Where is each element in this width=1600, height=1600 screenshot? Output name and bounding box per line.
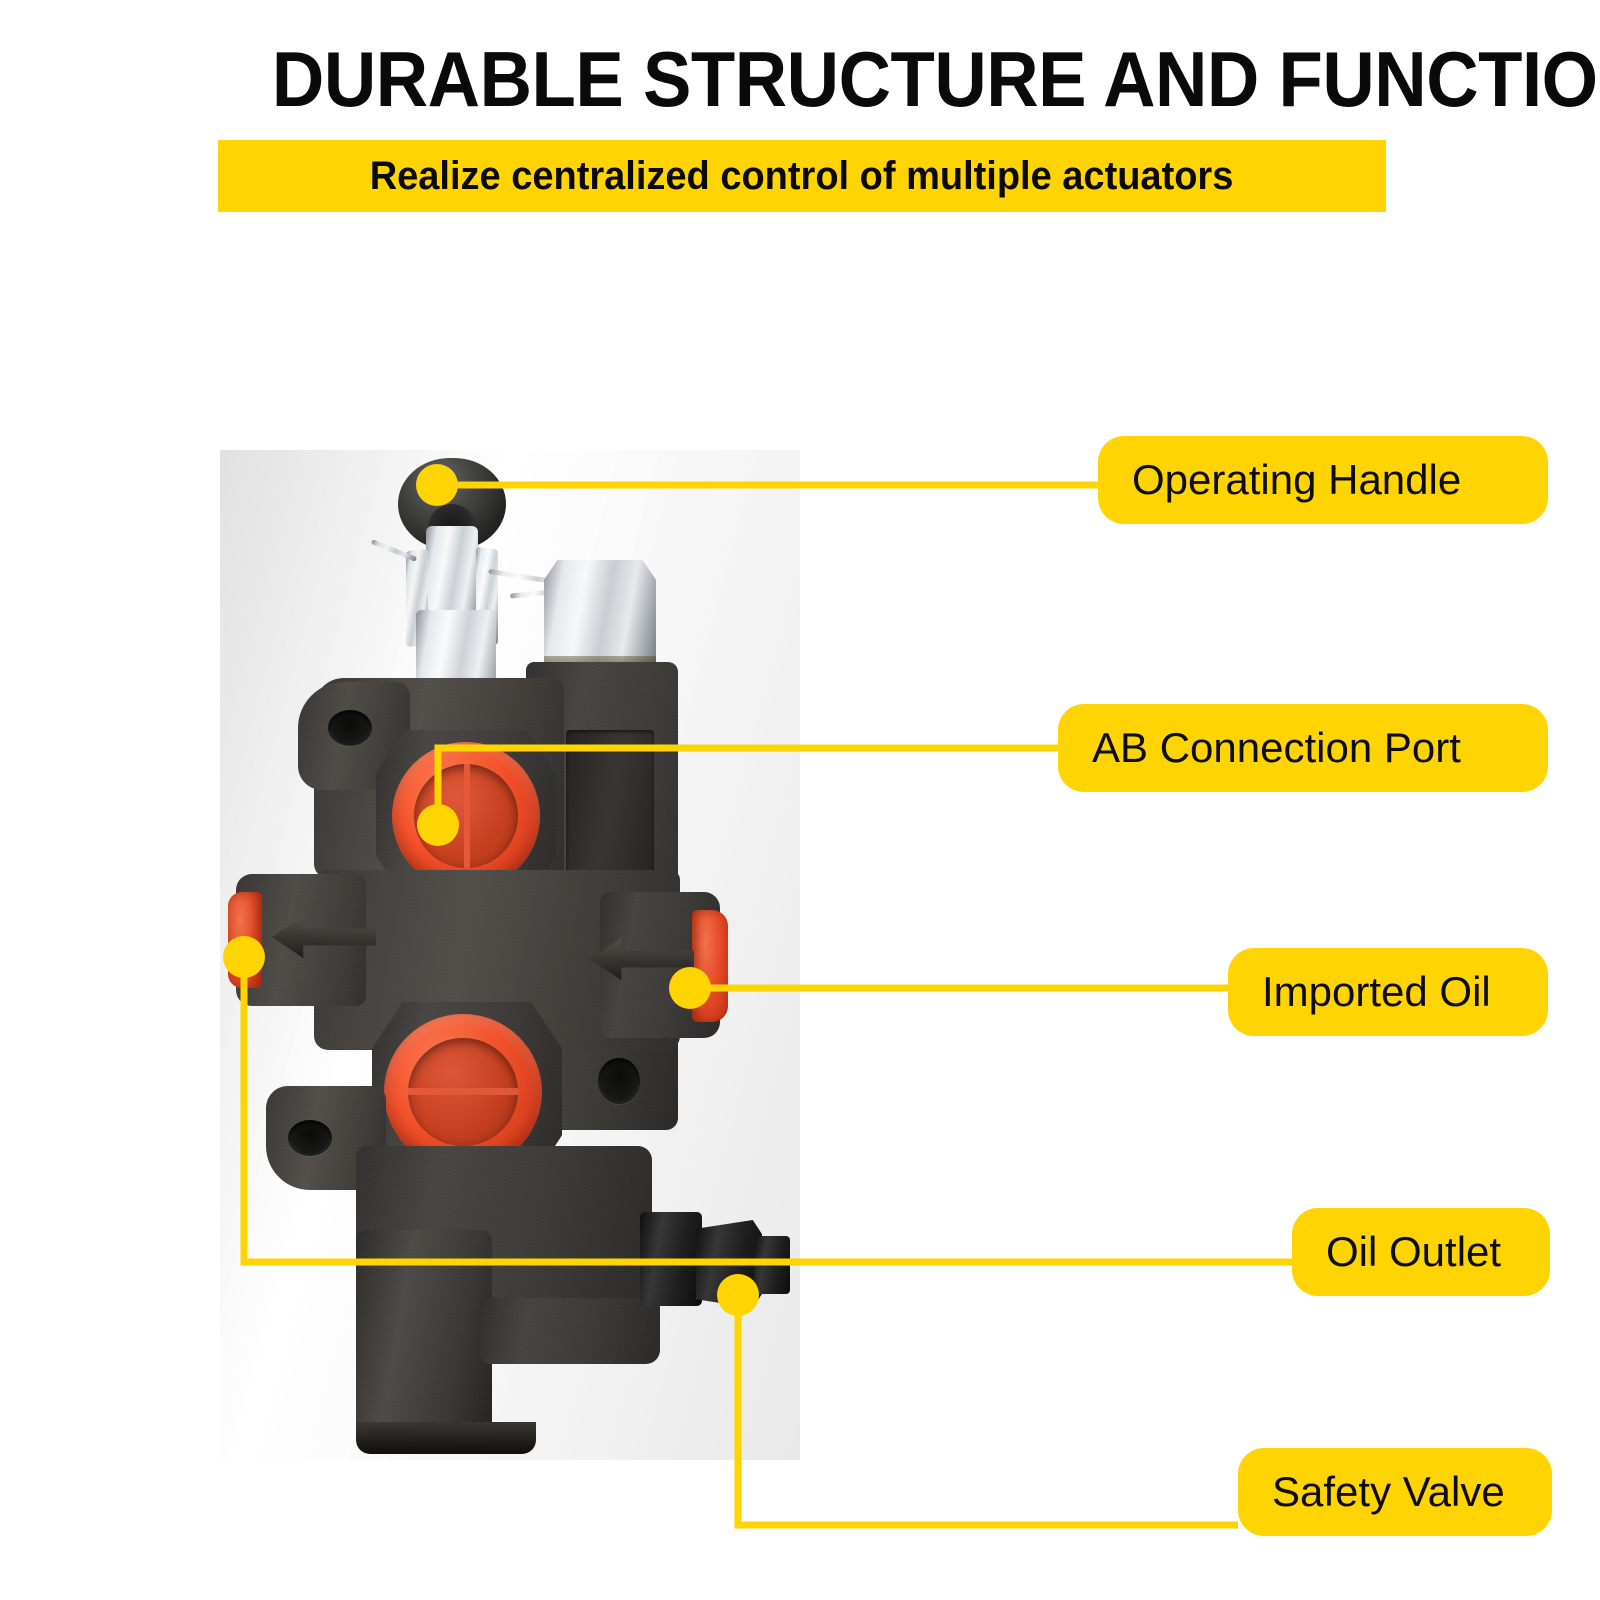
safety-valve-adjust-screw [754, 1236, 790, 1294]
valve-body-cylinder-boss [356, 1230, 492, 1452]
mounting-bolt-hole-upper-left [328, 710, 372, 746]
safety-valve-fitting-body [640, 1212, 702, 1306]
safety-valve-fitting-hex [696, 1220, 762, 1308]
callout-badge-operating-handle[interactable]: Operating Handle [1098, 436, 1548, 524]
inlet-port-cap [692, 910, 728, 1022]
callout-badge-ab-connection-port[interactable]: AB Connection Port [1058, 704, 1548, 792]
subtitle-banner: Realize centralized control of multiple … [218, 140, 1386, 212]
callout-badge-imported-oil[interactable]: Imported Oil [1228, 948, 1548, 1036]
callout-badge-oil-outlet[interactable]: Oil Outlet [1292, 1208, 1550, 1296]
callout-badge-label: Oil Outlet [1326, 1228, 1501, 1276]
ab-port-cap-upper-slot [464, 764, 470, 868]
ab-port-cap-lower-slot [408, 1088, 518, 1095]
valve-body-cylinder-base [356, 1422, 536, 1454]
valve-body-lower-foot [480, 1298, 660, 1364]
callout-badge-label: Safety Valve [1272, 1468, 1505, 1516]
mounting-bolt-hole-lower-left [288, 1120, 332, 1156]
callout-badge-safety-valve[interactable]: Safety Valve [1238, 1448, 1552, 1536]
mounting-bolt-hole-right [598, 1058, 640, 1104]
subtitle-text: Realize centralized control of multiple … [370, 154, 1234, 198]
page-title: DURABLE STRUCTURE AND FUNCTION [272, 36, 1332, 122]
callout-badge-label: AB Connection Port [1092, 724, 1461, 772]
hex-nut-fitting [544, 560, 656, 670]
outlet-port-cap [228, 892, 262, 988]
callout-badge-label: Imported Oil [1262, 968, 1491, 1016]
product-image-hydraulic-valve [180, 430, 820, 1460]
callout-badge-label: Operating Handle [1132, 456, 1461, 504]
header: DURABLE STRUCTURE AND FUNCTION Realize c… [0, 0, 1600, 230]
